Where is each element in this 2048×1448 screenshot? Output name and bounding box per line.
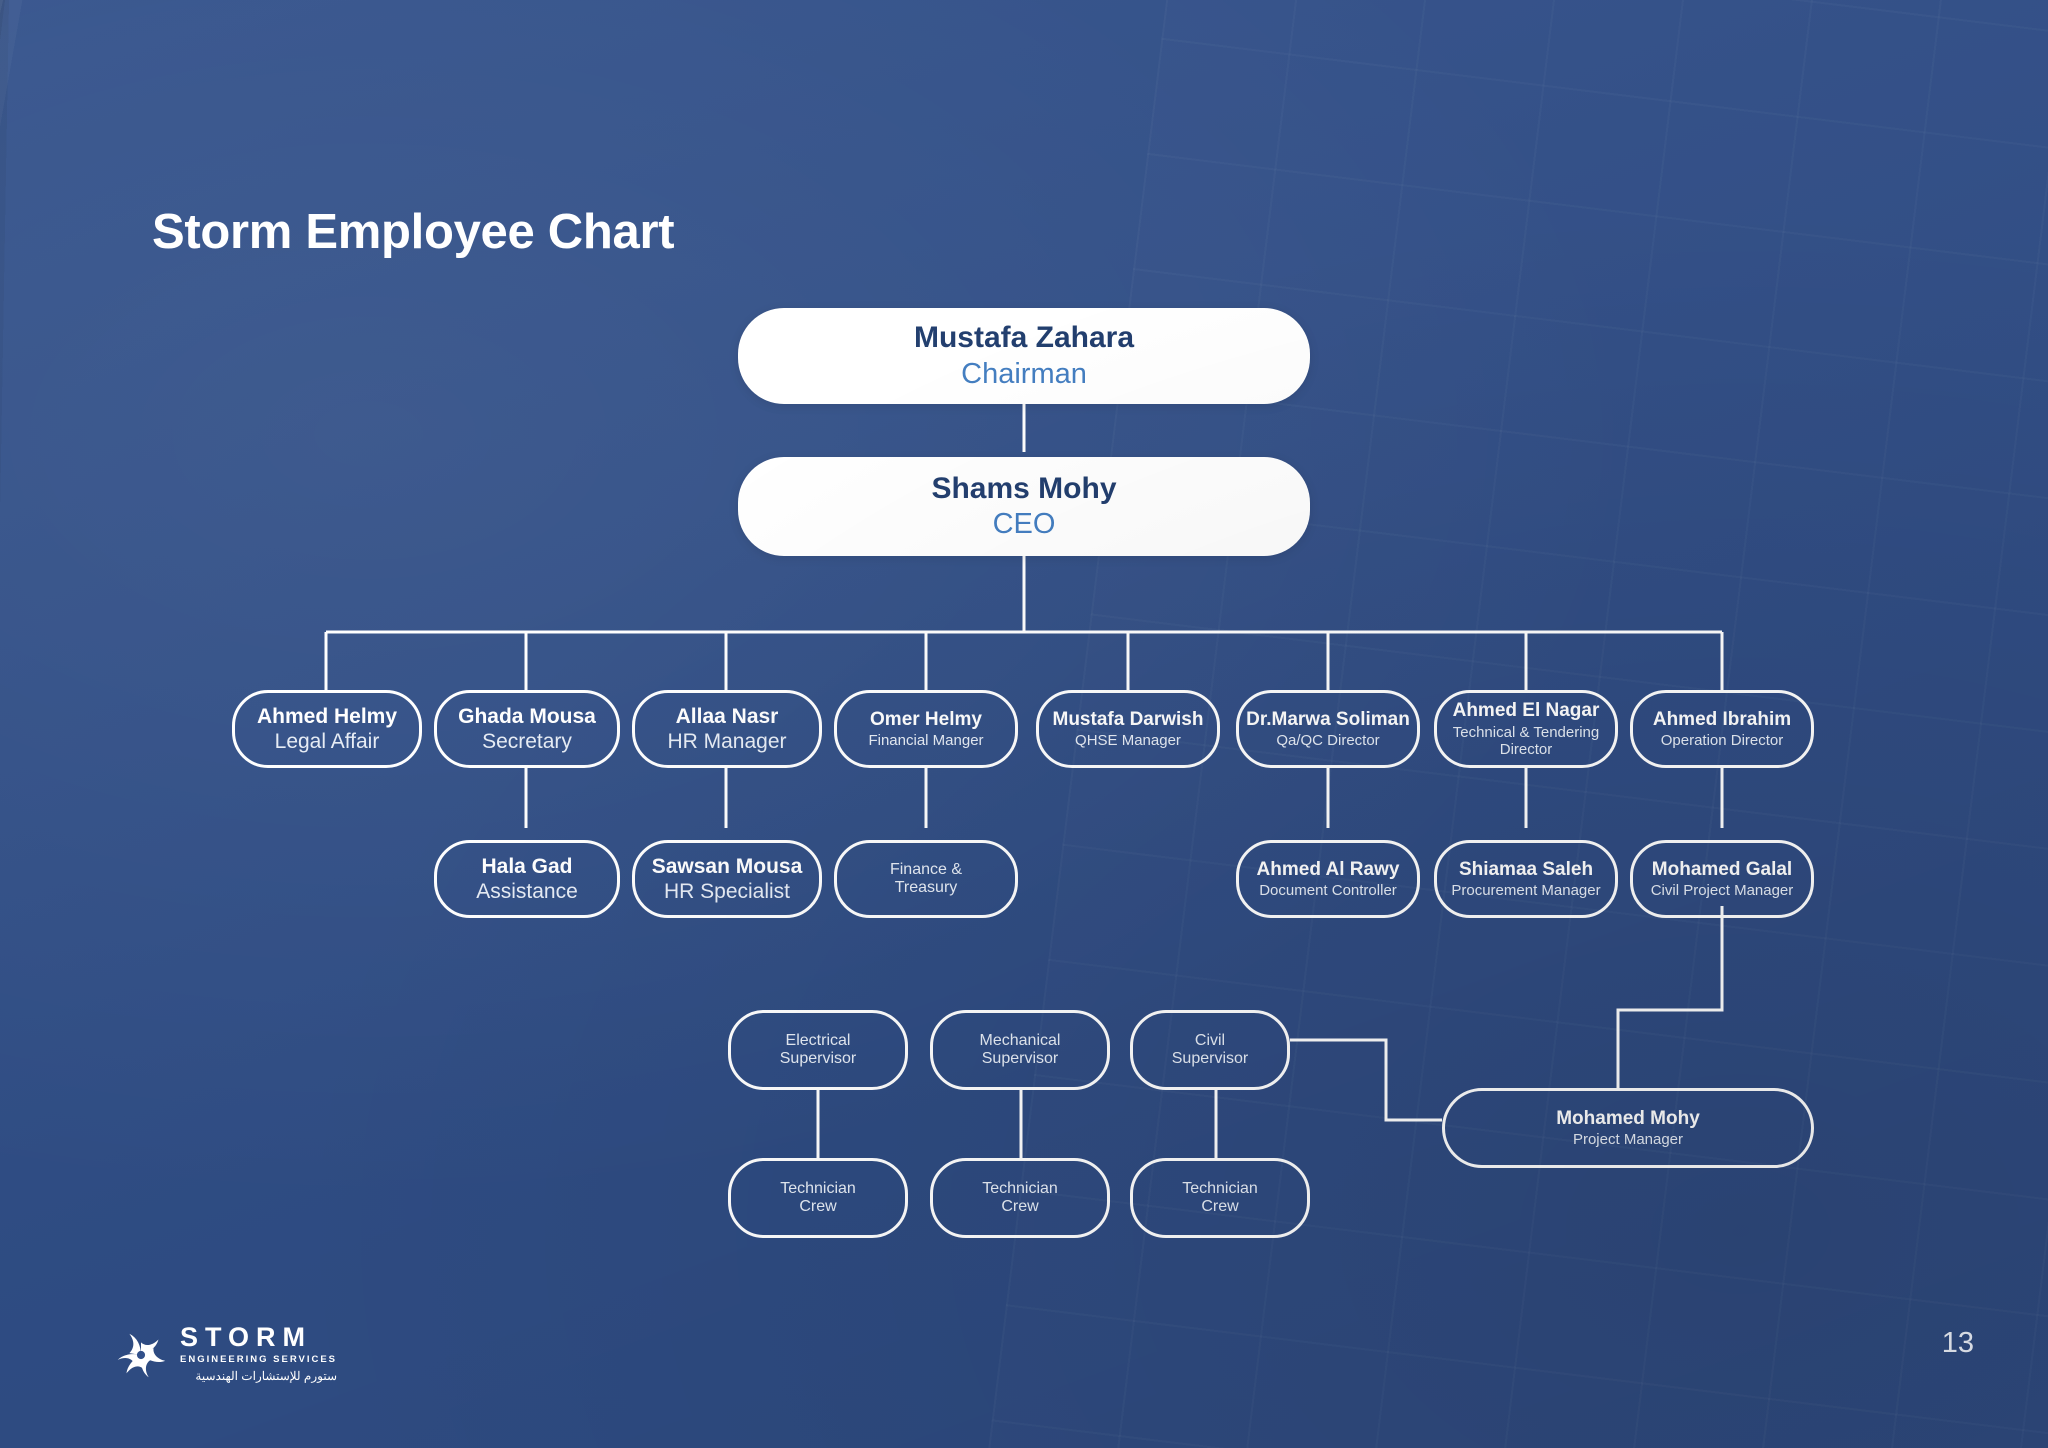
node-operation-director[interactable]: Ahmed Ibrahim Operation Director [1630,690,1814,768]
node-role: Document Controller [1259,882,1397,899]
node-technician-crew-civil[interactable]: Technician Crew [1130,1158,1310,1238]
node-name: Ahmed Helmy [257,705,397,729]
node-name: Dr.Marwa Soliman [1246,709,1410,731]
node-role: Assistance [476,880,578,904]
node-technical-tendering-director[interactable]: Ahmed El Nagar Technical & Tendering Dir… [1434,690,1618,768]
node-role: Procurement Manager [1451,882,1600,899]
logo-arabic: ستورم للإستشارات الهندسية [180,1370,337,1382]
logo-tagline: ENGINEERING SERVICES [180,1355,337,1365]
node-role: Mechanical Supervisor [956,1032,1084,1068]
node-role: Technician Crew [763,1180,873,1216]
node-name: Hala Gad [481,855,572,879]
node-role: QHSE Manager [1075,732,1181,749]
node-name: Allaa Nasr [676,705,779,729]
node-role: Operation Director [1661,732,1784,749]
org-chart-nodes: Mustafa Zahara Chairman Shams Mohy CEO A… [0,0,2048,1448]
node-chairman[interactable]: Mustafa Zahara Chairman [738,308,1310,404]
node-name: Ahmed Ibrahim [1653,709,1791,731]
node-hr-specialist[interactable]: Sawsan Mousa HR Specialist [632,840,822,918]
node-civil-project-manager[interactable]: Mohamed Galal Civil Project Manager [1630,840,1814,918]
node-qhse-manager[interactable]: Mustafa Darwish QHSE Manager [1036,690,1220,768]
node-name: Ahmed Al Rawy [1257,859,1400,881]
node-hr-manager[interactable]: Allaa Nasr HR Manager [632,690,822,768]
node-role: Project Manager [1573,1131,1683,1148]
node-secretary[interactable]: Ghada Mousa Secretary [434,690,620,768]
node-ceo[interactable]: Shams Mohy CEO [738,457,1310,556]
node-name: Shams Mohy [931,472,1116,506]
node-name: Mustafa Zahara [914,321,1134,355]
node-name: Ahmed El Nagar [1453,700,1600,722]
node-role: Electrical Supervisor [758,1032,878,1068]
node-name: Mustafa Darwish [1053,709,1204,731]
node-project-manager[interactable]: Mohamed Mohy Project Manager [1442,1088,1814,1168]
node-role: Civil Project Manager [1651,882,1794,899]
logo-brand: STORM [180,1324,337,1351]
node-technician-crew-mechanical[interactable]: Technician Crew [930,1158,1110,1238]
node-role: Technician Crew [1165,1180,1275,1216]
node-technician-crew-electrical[interactable]: Technician Crew [728,1158,908,1238]
page-number: 13 [1942,1327,1974,1360]
storm-wordmark: STORM ENGINEERING SERVICES ستورم للإستشا… [180,1324,337,1382]
node-finance-treasury[interactable]: Finance & Treasury [834,840,1018,918]
storm-swirl-icon [110,1324,172,1386]
node-name: Shiamaa Saleh [1459,859,1593,881]
node-assistance[interactable]: Hala Gad Assistance [434,840,620,918]
node-civil-supervisor[interactable]: Civil Supervisor [1130,1010,1290,1090]
node-qa-qc-director[interactable]: Dr.Marwa Soliman Qa/QC Director [1236,690,1420,768]
storm-logo: STORM ENGINEERING SERVICES ستورم للإستشا… [110,1320,330,1396]
node-mechanical-supervisor[interactable]: Mechanical Supervisor [930,1010,1110,1090]
node-name: Ghada Mousa [458,705,596,729]
node-role: HR Specialist [664,880,790,904]
node-name: Mohamed Galal [1652,859,1792,881]
node-role: CEO [993,508,1056,541]
node-name: Omer Helmy [870,709,982,731]
node-role: Finance & Treasury [866,861,986,897]
node-name: Sawsan Mousa [652,855,803,879]
node-role: Technical & Tendering Director [1437,724,1615,758]
node-role: Civil Supervisor [1155,1032,1265,1068]
node-procurement-manager[interactable]: Shiamaa Saleh Procurement Manager [1434,840,1618,918]
node-role: Legal Affair [275,730,380,754]
node-role: Chairman [961,358,1087,391]
node-role: Secretary [482,730,572,754]
node-role: Qa/QC Director [1276,732,1379,749]
node-role: HR Manager [667,730,786,754]
node-role: Technician Crew [965,1180,1075,1216]
node-name: Mohamed Mohy [1556,1108,1700,1130]
node-role: Financial Manger [868,732,983,749]
node-financial-manager[interactable]: Omer Helmy Financial Manger [834,690,1018,768]
node-legal-affair[interactable]: Ahmed Helmy Legal Affair [232,690,422,768]
node-electrical-supervisor[interactable]: Electrical Supervisor [728,1010,908,1090]
node-document-controller[interactable]: Ahmed Al Rawy Document Controller [1236,840,1420,918]
slide-canvas: Storm Employee Chart [0,0,2048,1448]
